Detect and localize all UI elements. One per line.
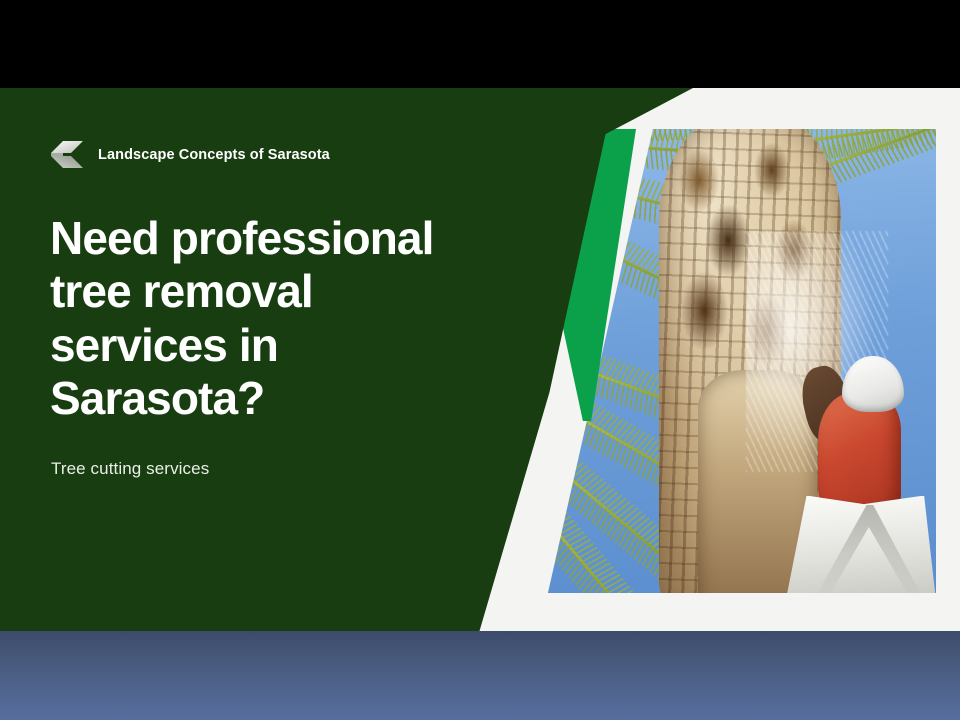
ladder (785, 496, 936, 593)
bottom-gradient-band (0, 631, 960, 720)
page-title: Need professional tree removal services … (50, 212, 480, 425)
brand-name: Landscape Concepts of Sarasota (98, 147, 330, 163)
slide-canvas: Landscape Concepts of Sarasota Need prof… (0, 88, 960, 631)
parallelogram-diamond-logo-icon (50, 140, 84, 170)
subtitle: Tree cutting services (51, 458, 471, 480)
brand-lockup: Landscape Concepts of Sarasota (50, 140, 330, 170)
top-letterbox-band (0, 0, 960, 88)
worker-hard-hat (842, 356, 904, 412)
slide-viewport: Landscape Concepts of Sarasota Need prof… (0, 0, 960, 720)
arborist-worker (793, 352, 928, 584)
